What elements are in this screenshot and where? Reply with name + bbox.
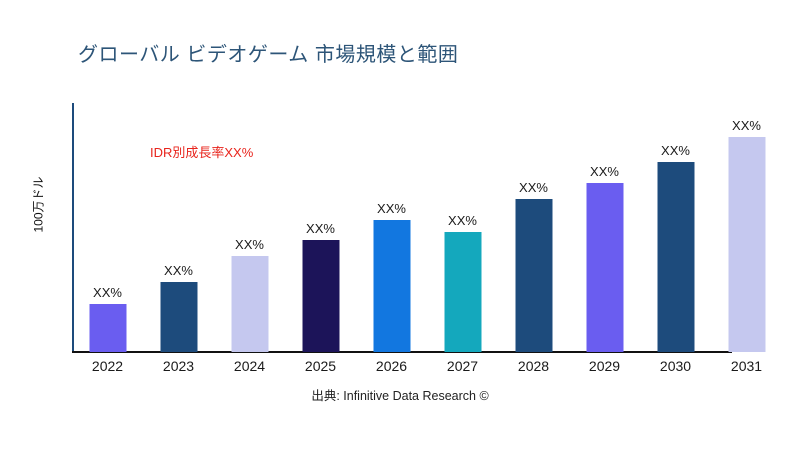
- x-tick-label-2029: 2029: [569, 358, 640, 374]
- bar[interactable]: [302, 240, 339, 352]
- bar[interactable]: [444, 232, 481, 352]
- x-tick-label-2026: 2026: [356, 358, 427, 374]
- x-tick-label-2025: 2025: [285, 358, 356, 374]
- bar-group[interactable]: XX%: [143, 103, 214, 352]
- bar-value-label: XX%: [235, 237, 264, 252]
- chart-title: グローバル ビデオゲーム 市場規模と範囲: [78, 38, 458, 67]
- x-tick-label-2031: 2031: [711, 358, 782, 374]
- bar[interactable]: [515, 199, 552, 352]
- bar-value-label: XX%: [661, 143, 690, 158]
- bar-group[interactable]: XX%: [214, 103, 285, 352]
- bar-group[interactable]: XX%: [72, 103, 143, 352]
- x-tick-label-2028: 2028: [498, 358, 569, 374]
- bar-group[interactable]: XX%: [356, 103, 427, 352]
- source-note: 出典: Infinitive Data Research ©: [0, 385, 800, 404]
- bar-value-label: XX%: [377, 201, 406, 216]
- bar-value-label: XX%: [164, 263, 193, 278]
- bar-value-label: XX%: [732, 118, 761, 133]
- bar-group[interactable]: XX%: [640, 103, 711, 352]
- bar-value-label: XX%: [590, 164, 619, 179]
- bar-value-label: XX%: [448, 213, 477, 228]
- x-tick-label-2022: 2022: [72, 358, 143, 374]
- bar-group[interactable]: XX%: [711, 103, 782, 352]
- y-axis-label: 100万ドル: [30, 145, 47, 265]
- bar[interactable]: [160, 282, 197, 352]
- x-tick-label-2027: 2027: [427, 358, 498, 374]
- x-tick-label-2024: 2024: [214, 358, 285, 374]
- bar[interactable]: [373, 220, 410, 352]
- bar-group[interactable]: XX%: [498, 103, 569, 352]
- bar[interactable]: [89, 304, 126, 352]
- bar[interactable]: [231, 256, 268, 352]
- bar[interactable]: [657, 162, 694, 352]
- bar-group[interactable]: XX%: [427, 103, 498, 352]
- bar-value-label: XX%: [93, 285, 122, 300]
- plot-area: XX%XX%XX%XX%XX%XX%XX%XX%XX%XX%: [72, 103, 784, 352]
- bar[interactable]: [728, 137, 765, 352]
- x-tick-label-2023: 2023: [143, 358, 214, 374]
- bar-group[interactable]: XX%: [285, 103, 356, 352]
- bar[interactable]: [586, 183, 623, 352]
- bar-group[interactable]: XX%: [569, 103, 640, 352]
- bar-value-label: XX%: [519, 180, 548, 195]
- x-tick-label-2030: 2030: [640, 358, 711, 374]
- chart-container: グローバル ビデオゲーム 市場規模と範囲 100万ドル IDR別成長率XX% X…: [0, 0, 800, 450]
- bar-value-label: XX%: [306, 221, 335, 236]
